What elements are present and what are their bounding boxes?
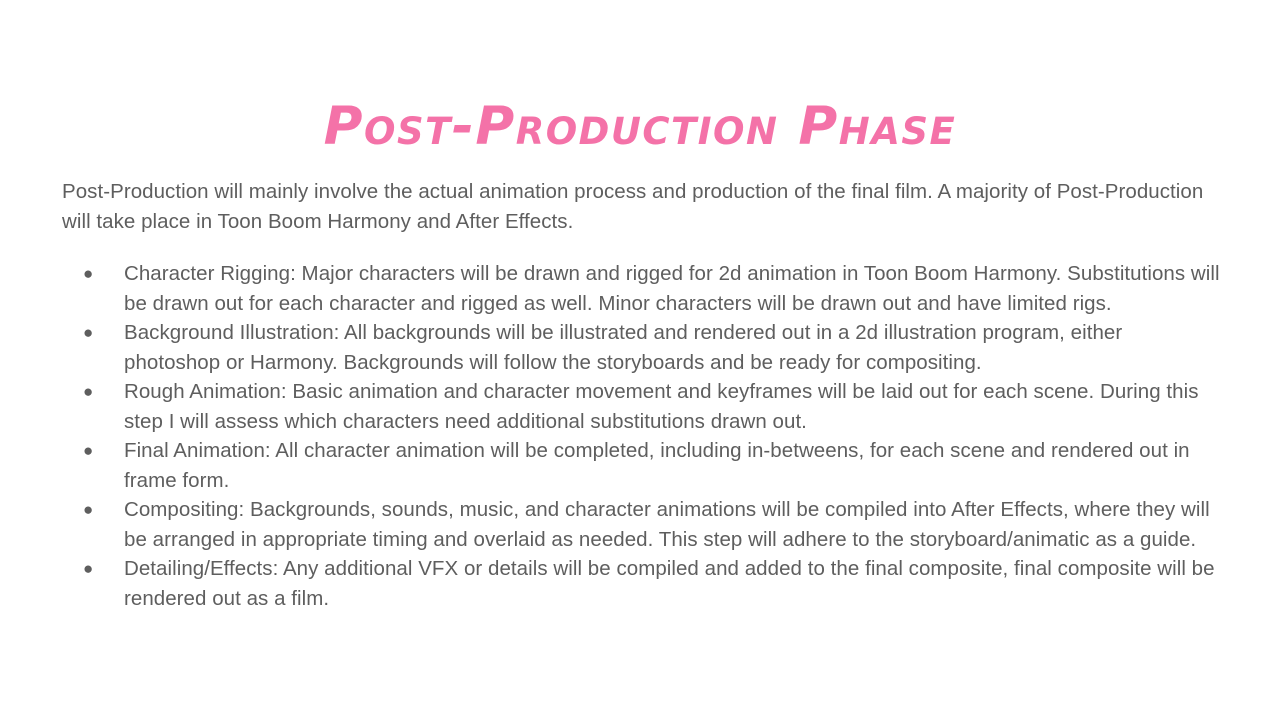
- list-item: ● Final Animation: All character animati…: [62, 436, 1222, 495]
- list-item-text: Compositing: Backgrounds, sounds, music,…: [124, 495, 1222, 554]
- list-item: ● Character Rigging: Major characters wi…: [62, 259, 1222, 318]
- list-item-text: Background Illustration: All backgrounds…: [124, 318, 1222, 377]
- intro-paragraph: Post-Production will mainly involve the …: [62, 177, 1222, 237]
- bullet-point-icon: ●: [83, 436, 97, 466]
- list-item: ● Background Illustration: All backgroun…: [62, 318, 1222, 377]
- bullet-point-icon: ●: [83, 259, 97, 289]
- list-item-text: Detailing/Effects: Any additional VFX or…: [124, 554, 1222, 613]
- presentation-slide: Post-Production Phase Post-Production wi…: [0, 0, 1280, 720]
- bullet-point-icon: ●: [83, 377, 97, 407]
- bullet-point-icon: ●: [83, 318, 97, 348]
- slide-body: Post-Production will mainly involve the …: [62, 177, 1222, 613]
- bullet-point-icon: ●: [83, 554, 97, 584]
- bullet-list: ● Character Rigging: Major characters wi…: [62, 259, 1222, 613]
- list-item: ● Rough Animation: Basic animation and c…: [62, 377, 1222, 436]
- list-item-text: Character Rigging: Major characters will…: [124, 259, 1222, 318]
- list-item: ● Detailing/Effects: Any additional VFX …: [62, 554, 1222, 613]
- list-item: ● Compositing: Backgrounds, sounds, musi…: [62, 495, 1222, 554]
- page-title: Post-Production Phase: [0, 94, 1280, 160]
- bullet-point-icon: ●: [83, 495, 97, 525]
- list-item-text: Rough Animation: Basic animation and cha…: [124, 377, 1222, 436]
- list-item-text: Final Animation: All character animation…: [124, 436, 1222, 495]
